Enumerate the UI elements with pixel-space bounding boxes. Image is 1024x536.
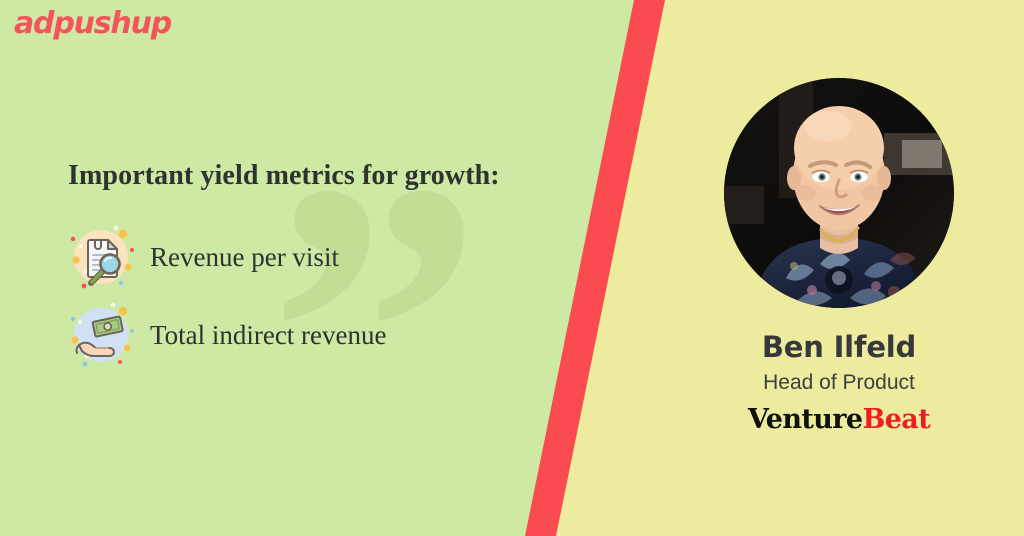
avatar (724, 78, 954, 308)
venturebeat-logo: VentureBeat (654, 404, 1024, 435)
speaker-role: Head of Product (654, 371, 1024, 395)
list-item: Total indirect revenue (68, 296, 568, 374)
venturebeat-logo-primary: Venture (748, 404, 863, 435)
hand-money-icon (64, 298, 138, 372)
venturebeat-logo-accent: Beat (863, 404, 931, 435)
adpushup-logo: adpushup (14, 6, 171, 41)
left-content-block: Important yield metrics for growth: (68, 160, 568, 374)
list-item-label: Revenue per visit (150, 242, 339, 273)
metrics-list: Revenue per visit (68, 218, 568, 374)
list-item-label: Total indirect revenue (150, 320, 387, 351)
page-title: Important yield metrics for growth: (68, 160, 568, 192)
document-magnifier-icon (64, 220, 138, 294)
slide-canvas: ” adpushup Important yield metrics for g… (0, 0, 1024, 536)
speaker-card: Ben Ilfeld Head of Product VentureBeat (654, 78, 1024, 435)
list-item: Revenue per visit (68, 218, 568, 296)
speaker-name: Ben Ilfeld (654, 330, 1024, 364)
